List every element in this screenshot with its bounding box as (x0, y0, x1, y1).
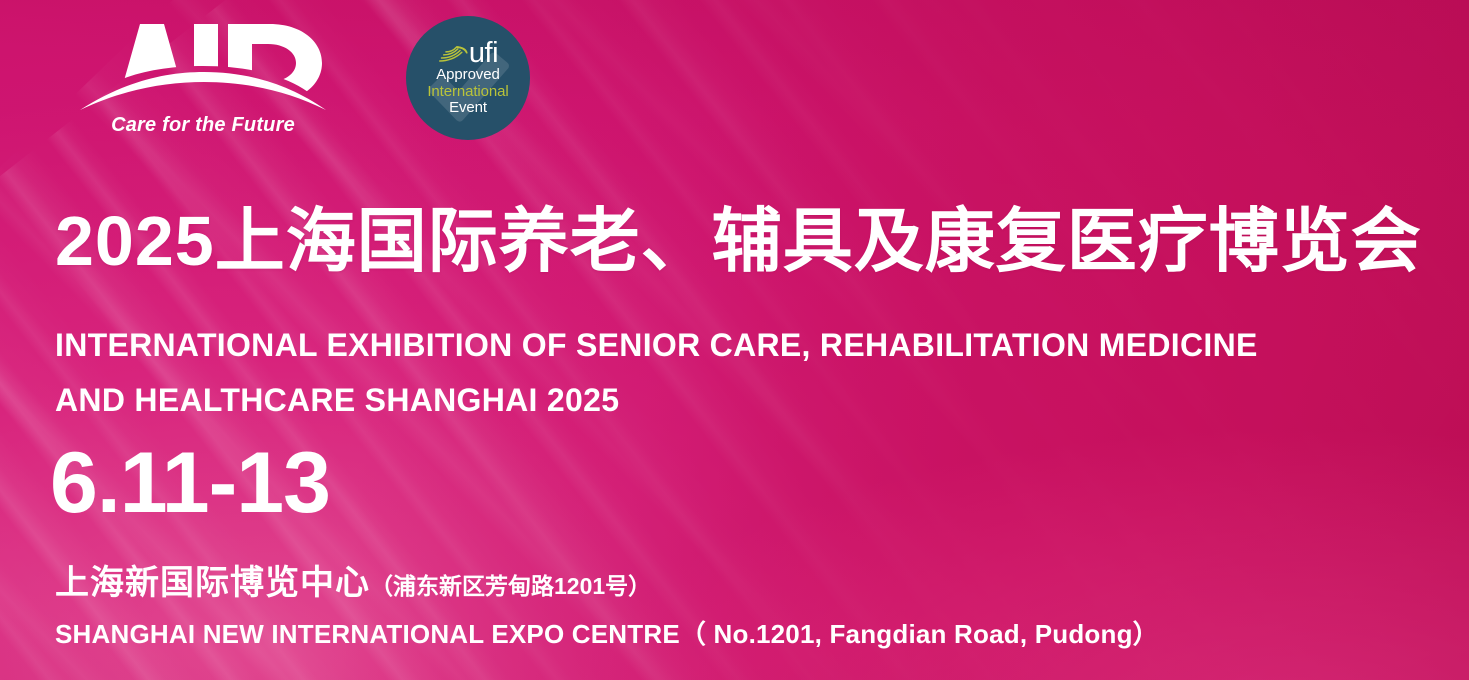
event-banner: Care for the Future (0, 0, 1469, 680)
event-title-english-line2: AND HEALTHCARE SHANGHAI 2025 (55, 373, 1415, 428)
event-dates: 6.11-13 (50, 440, 330, 526)
event-title-english: INTERNATIONAL EXHIBITION OF SENIOR CARE,… (55, 318, 1415, 428)
venue-english: SHANGHAI NEW INTERNATIONAL EXPO CENTRE（ … (55, 619, 1159, 650)
venue-chinese-name: 上海新国际博览中心 (55, 564, 370, 602)
event-title-english-line1: INTERNATIONAL EXHIBITION OF SENIOR CARE,… (55, 318, 1415, 373)
venue-chinese: 上海新国际博览中心（浦东新区芳甸路1201号） (55, 566, 651, 600)
venue-chinese-address: （浦东新区芳甸路1201号） (370, 573, 651, 599)
banner-content: 2025上海国际养老、辅具及康复医疗博览会 INTERNATIONAL EXHI… (0, 0, 1469, 680)
event-title-chinese: 2025上海国际养老、辅具及康复医疗博览会 (55, 206, 1422, 276)
